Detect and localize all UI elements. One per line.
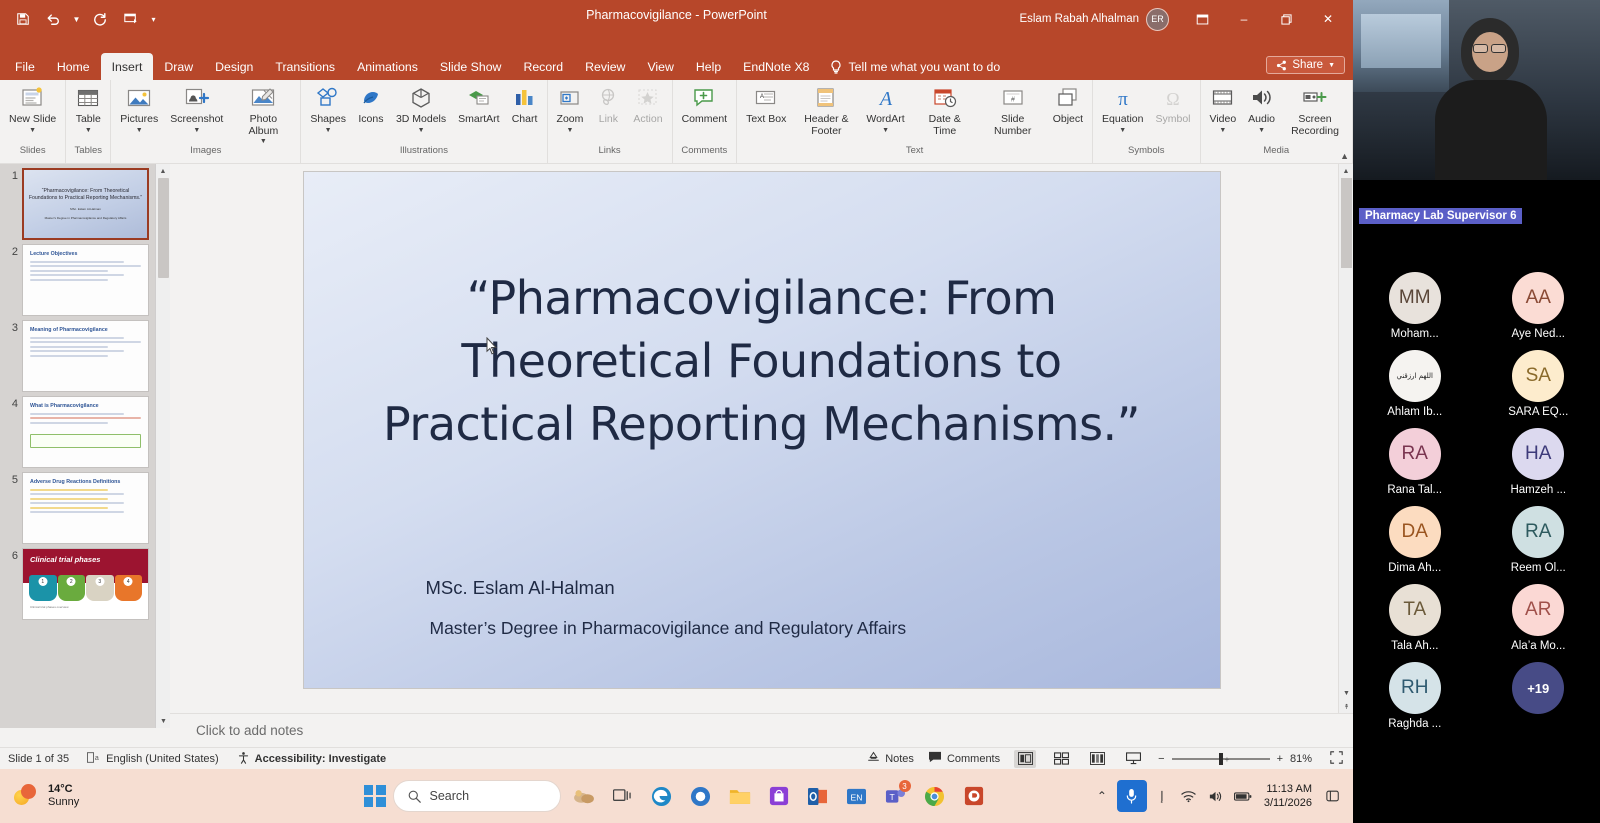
comments-label: Comments [947,753,1000,765]
slide-thumbnail-number: 3 [4,320,22,334]
participant-avatar: اللهم ارزقني [1389,350,1441,402]
notes-pane[interactable]: Click to add notes [170,713,1353,747]
thumbnail-phase-row: 1234 [23,575,148,601]
thumbnail-title-slide: “Pharmacovigilance: From Theoretical Fou… [24,170,147,238]
start-presentation-icon[interactable] [117,6,143,32]
reading-view-button[interactable] [1086,750,1108,768]
undo-icon[interactable] [40,6,66,32]
taskbar-center: Search [364,780,990,812]
slide-editing-pane: “Pharmacovigilance: From Theoretical Fou… [170,164,1353,728]
participant-avatar: AR [1512,584,1564,636]
zoom-button[interactable]: Zoom▼ [551,82,590,136]
link-button: Link [589,82,627,128]
tell-me-search[interactable]: Tell me what you want to do [820,53,1010,80]
participant-roster: MMMoham...AAAye Ned...اللهم ارزقنيAhlam … [1353,272,1600,730]
search-input[interactable]: Search [393,780,561,812]
svg-text:Ω: Ω [1166,89,1179,109]
weather-widget[interactable]: 14°C Sunny [0,783,79,809]
participant-avatar: TA [1389,584,1441,636]
participant-overflow[interactable]: +19 [1477,662,1600,730]
participant-tile[interactable]: ARAla’a Mo... [1477,584,1600,652]
outlook-icon[interactable] [802,780,834,812]
accessibility-label: Accessibility: Investigate [255,753,386,765]
slide-thumbnail-number: 6 [4,548,22,562]
weather-temp: 14°C [48,783,73,795]
audio-button[interactable]: Audio▼ [1242,82,1281,136]
ribbon-tab-animations[interactable]: Animations [346,53,429,80]
new-slide-button[interactable]: New Slide▼ [3,82,62,136]
participant-tile[interactable]: RAReem Ol... [1477,506,1600,574]
english-ime-icon[interactable]: EN [841,780,873,812]
weather-desc: Sunny [48,796,79,808]
phase-4: 4 [115,575,143,601]
zoom-in-button[interactable]: + [1277,753,1283,765]
slide-sorter-button[interactable] [1050,750,1072,768]
date-time-button[interactable]: Date & Time [911,82,979,139]
participant-tile[interactable]: HAHamzeh ... [1477,428,1600,496]
avatar[interactable]: ER [1146,8,1169,31]
save-icon[interactable] [10,6,36,32]
ribbon-item-label: SmartArt [458,114,499,126]
smartart-button[interactable]: SmartArt [452,82,505,128]
ribbon-tab-file[interactable]: File [4,53,46,80]
thumbnail-slide-subtitle: MSc. Eslam Al-Halman [70,207,101,211]
slide-scroll-thumb[interactable] [1341,178,1352,268]
participant-name: Ala’a Mo... [1511,640,1565,652]
slide-thumbnail-row: 3Meaning of Pharmacovigilance [0,316,170,392]
video-person [1431,18,1551,180]
ribbon-tab-view[interactable]: View [636,53,684,80]
slide-thumbnail-5[interactable]: Adverse Drug Reactions Definitions [22,472,149,544]
participant-avatar: SA [1512,350,1564,402]
thumbnail-slide-subtitle2: Master’s Degree in Pharmacovigilance and… [45,216,127,220]
comment-button[interactable]: Comment [676,82,734,128]
share-label: Share [1292,59,1323,71]
audio-icon [1249,84,1275,114]
phase-3: 3 [86,575,114,601]
svg-text:A: A [877,88,892,110]
participant-tile[interactable]: RHRaghda ... [1353,662,1477,730]
slide-degree[interactable]: Master’s Degree in Pharmacovigilance and… [430,618,907,639]
wordart-button[interactable]: AWordArt▼ [860,82,910,136]
teams-badge: 3 [899,780,911,792]
thumbnail-scroll-up-icon[interactable]: ▲ [156,164,170,178]
participant-tile[interactable]: SASARA EQ... [1477,350,1600,418]
participant-name: Reem Ol... [1511,562,1566,574]
participant-name: Ahlam Ib... [1387,406,1442,418]
comments-toggle[interactable]: Comments [928,751,1000,766]
ribbon-item-label: Screenshot [170,114,223,126]
close-button[interactable]: ✕ [1307,3,1349,35]
participant-name: SARA EQ... [1508,406,1568,418]
phase-1: 1 [29,575,57,601]
ribbon-item-label: 3D Models [396,114,446,126]
search-placeholder: Search [430,789,470,803]
svg-text:π: π [1118,89,1128,110]
ribbon-display-options-icon[interactable] [1181,3,1223,35]
status-bar-right: Notes Comments [867,750,1353,768]
ribbon-item-label: Comment [682,114,728,126]
photo-album-icon [250,84,276,114]
screen-recording-icon [1302,84,1328,114]
icons-icon [358,84,384,114]
main-area: 1“Pharmacovigilance: From Theoretical Fo… [0,164,1353,728]
participant-name: Aye Ned... [1512,328,1566,340]
ribbon-group-label: Comments [676,145,734,156]
fit-to-window-icon[interactable] [1330,751,1343,767]
object-button[interactable]: Object [1047,82,1089,128]
participant-tile[interactable]: AAAye Ned... [1477,272,1600,340]
title-bar-right: Eslam Rabah Alhalman ER – ✕ [1019,0,1353,38]
3d-models-icon [408,84,434,114]
svg-text:T: T [890,792,896,802]
chevron-down-icon[interactable]: ▼ [567,127,574,134]
action-button: Action [627,82,668,128]
previous-slide-icon[interactable]: ↟ [1339,700,1353,714]
chevron-down-icon[interactable]: ▼ [29,127,36,134]
wordart-icon: A [873,84,899,114]
slide-show-button[interactable] [1122,750,1144,768]
ribbon-item-label: Action [633,114,662,126]
zoom-slider-knob[interactable] [1219,753,1223,765]
share-icon [1276,60,1287,71]
file-explorer-icon[interactable] [724,780,756,812]
teams-icon[interactable]: T 3 [880,780,912,812]
lightbulb-icon [830,60,842,74]
qat-more-icon[interactable]: ▾ [147,15,160,24]
ribbon-group-label: Links [551,145,669,156]
powerpoint-window: ▼ ▾ Pharmacovigilance - PowerPoint Eslam… [0,0,1353,823]
svg-text:EN: EN [851,792,863,802]
edge-icon[interactable] [646,780,678,812]
tell-me-label: Tell me what you want to do [848,60,1000,74]
participant-tile[interactable]: TATala Ah... [1353,584,1477,652]
weather-icon [14,784,40,808]
ime-indicator[interactable]: إ [1150,782,1174,810]
photo-album-button[interactable]: Photo Album▼ [229,82,297,147]
pictures-button[interactable]: Pictures▼ [114,82,164,136]
screenshot-button[interactable]: Screenshot▼ [164,82,229,136]
chevron-down-icon[interactable]: ▼ [1219,127,1226,134]
slide-thumbnail-6[interactable]: Clinical trial phases1234Clinical trial … [22,548,149,620]
speaker-name-badge: Pharmacy Lab Supervisor 6 [1359,208,1522,224]
chevron-down-icon[interactable]: ▼ [1119,127,1126,134]
ribbon-tab-endnote-x8[interactable]: EndNote X8 [732,53,820,80]
status-bar-left: Slide 1 of 35 a English (United States) … [0,751,386,767]
ribbon-item-label: Slide Number [985,114,1041,137]
ribbon-group-label: Slides [3,145,62,156]
ribbon-item-label: Photo Album [235,114,291,137]
slide-thumbnail-number: 2 [4,244,22,258]
participant-avatar: AA [1512,272,1564,324]
chevron-down-icon[interactable]: ▼ [193,127,200,134]
new-slide-icon [20,84,46,114]
accessibility-status[interactable]: Accessibility: Investigate [237,751,386,767]
participant-tile[interactable]: MMMoham... [1353,272,1477,340]
svg-text:a: a [95,755,99,762]
slide-title[interactable]: “Pharmacovigilance: From Theoretical Fou… [362,267,1162,456]
chevron-down-icon[interactable]: ▼ [325,127,332,134]
action-icon [635,84,661,114]
phase-2: 2 [58,575,86,601]
text-box-icon: A [753,84,779,114]
ribbon-item-label: Shapes [310,114,346,126]
ribbon-group-tables: Table▼Tables [66,80,111,163]
screenshot-icon [184,84,210,114]
ribbon-group-slides: New Slide▼Slides [0,80,66,163]
ribbon-group-media: Video▼Audio▼Screen RecordingMedia [1201,80,1354,163]
thumbnail-content-slide: Meaning of Pharmacovigilance [23,321,148,391]
object-icon [1055,84,1081,114]
teams-meeting-panel: Pharmacy Lab Supervisor 6 MMMoham...AAAy… [1353,0,1600,823]
ribbon-group-images: Pictures▼Screenshot▼Photo Album▼Images [111,80,301,163]
video-button[interactable]: Video▼ [1204,82,1243,136]
participant-avatar: MM [1389,272,1441,324]
ribbon-tab-record[interactable]: Record [512,53,574,80]
thumbnail-scrollbar[interactable]: ▲ ▼ [155,164,170,728]
ribbon-group-label: Tables [69,145,107,156]
ribbon-group-symbols: πEquation▼ΩSymbolSymbols [1093,80,1200,163]
header-footer-icon [813,84,839,114]
slide-thumbnail-3[interactable]: Meaning of Pharmacovigilance [22,320,149,392]
ribbon-tab-draw[interactable]: Draw [153,53,204,80]
participant-name: Rana Tal... [1387,484,1442,496]
ribbon-group-label: Text [740,145,1089,156]
text-box-button[interactable]: AText Box [740,82,792,128]
date-time-icon [932,84,958,114]
chevron-down-icon[interactable]: ▼ [882,127,889,134]
ribbon-item-label: Date & Time [917,114,973,137]
system-tray: ⌃ إ 11:13 AM 3/11/2026 [1090,780,1353,812]
wifi-icon[interactable] [1177,782,1201,810]
zoom-icon [557,84,583,114]
store-icon[interactable] [763,780,795,812]
thumbnail-slide-title: “Pharmacovigilance: From Theoretical Fou… [28,188,143,202]
zoom-control[interactable]: − + + 81% [1158,753,1316,765]
participant-tile[interactable]: DADima Ah... [1353,506,1477,574]
collapse-ribbon-icon[interactable]: ▲ [1340,151,1349,161]
slide-scroll-down-icon[interactable]: ▼ [1339,686,1353,700]
ribbon-tab-bar: FileHomeInsertDrawDesignTransitionsAnima… [0,53,1353,80]
chevron-down-icon[interactable]: ▼ [418,127,425,134]
participant-name: Moham... [1391,328,1439,340]
link-icon [595,84,621,114]
windows-start-icon[interactable] [364,785,386,807]
normal-view-button[interactable] [1014,750,1036,768]
current-slide[interactable]: “Pharmacovigilance: From Theoretical Fou… [304,172,1220,688]
participant-avatar: RA [1512,506,1564,558]
windows-taskbar: 14°C Sunny Search [0,769,1353,823]
notes-icon [867,751,880,766]
ribbon-group-label: Symbols [1096,145,1196,156]
thumbnail-slide-title: Adverse Drug Reactions Definitions [30,479,141,485]
notes-toggle[interactable]: Notes [867,751,914,766]
notification-icon[interactable] [1321,782,1345,810]
slide-thumbnail-row: 5Adverse Drug Reactions Definitions [0,468,170,544]
language-icon: a [87,752,101,766]
thumbnail-content-slide: Adverse Drug Reactions Definitions [23,473,148,543]
chevron-down-icon[interactable]: ▼ [260,138,267,145]
slide-thumbnail-row: 2Lecture Objectives [0,240,170,316]
ribbon-item-label: Equation [1102,114,1143,126]
weather-text: 14°C Sunny [48,783,79,809]
ribbon-group-label: Media [1204,145,1350,156]
slide-thumbnail-2[interactable]: Lecture Objectives [22,244,149,316]
ribbon-item-label: Link [599,114,618,126]
mic-icon[interactable] [1117,780,1147,812]
table-icon [75,84,101,114]
chevron-down-icon[interactable]: ▼ [85,127,92,134]
minimize-button[interactable]: – [1223,3,1265,35]
participant-avatar: HA [1512,428,1564,480]
zoom-default-marker: + [1225,755,1230,764]
participant-avatar: DA [1389,506,1441,558]
thumbnail-content-slide: What is Pharmacovigilance [23,397,148,467]
clock-date: 3/11/2026 [1264,797,1312,809]
slide-thumbnail-pane[interactable]: 1“Pharmacovigilance: From Theoretical Fo… [0,164,170,728]
shapes-icon [315,84,341,114]
chevron-down-icon[interactable]: ▼ [136,127,143,134]
ribbon-item-label: Symbol [1155,114,1190,126]
quick-access-toolbar: ▼ ▾ [0,0,160,32]
search-icon [408,790,421,803]
comment-icon [691,84,717,114]
battery-icon[interactable] [1231,782,1255,810]
svg-text:#: # [1011,97,1015,104]
3d-models-button[interactable]: 3D Models▼ [390,82,452,136]
ribbon-item-label: Chart [512,114,538,126]
ribbon-item-label: Pictures [120,114,158,126]
ribbon-group-label: Illustrations [304,145,543,156]
ribbon-item-label: Object [1053,114,1083,126]
chart-button[interactable]: Chart [506,82,544,128]
ribbon-tab-slide-show[interactable]: Slide Show [429,53,513,80]
ribbon-tab-insert[interactable]: Insert [101,53,154,80]
slide-author[interactable]: MSc. Eslam Al-Halman [426,577,615,599]
powerpoint-icon[interactable] [958,780,990,812]
account-name: Eslam Rabah Alhalman [1019,13,1139,25]
volume-icon[interactable] [1204,782,1228,810]
accessibility-icon [237,751,250,767]
screen-root: ▼ ▾ Pharmacovigilance - PowerPoint Eslam… [0,0,1600,823]
pictures-icon [126,84,152,114]
zoom-level[interactable]: 81% [1290,753,1316,765]
ribbon-tab-design[interactable]: Design [204,53,264,80]
restore-button[interactable] [1265,3,1307,35]
ribbon-tab-review[interactable]: Review [574,53,636,80]
table-button[interactable]: Table▼ [69,82,107,136]
thumbnail-scroll-thumb[interactable] [158,178,169,278]
undo-dropdown-icon[interactable]: ▼ [70,15,83,24]
participant-name: Dima Ah... [1388,562,1441,574]
participant-tile[interactable]: اللهم ارزقنيAhlam Ib... [1353,350,1477,418]
symbol-icon: Ω [1160,84,1186,114]
chevron-down-icon[interactable]: ▼ [1258,127,1265,134]
task-view-icon[interactable] [607,780,639,812]
notes-placeholder[interactable]: Click to add notes [196,723,303,738]
participant-avatar: RA [1389,428,1441,480]
chrome-icon[interactable] [919,780,951,812]
equation-button[interactable]: πEquation▼ [1096,82,1149,136]
slide-thumbnail-row: 1“Pharmacovigilance: From Theoretical Fo… [0,164,170,240]
chart-icon [512,84,538,114]
ribbon-group-label: Images [114,145,297,156]
status-bar: Slide 1 of 35 a English (United States) … [0,747,1353,769]
slide-thumbnail-1[interactable]: “Pharmacovigilance: From Theoretical Fou… [22,168,149,240]
comment-icon [928,751,942,766]
slide-thumbnail-4[interactable]: What is Pharmacovigilance [22,396,149,468]
icons-button[interactable]: Icons [352,82,390,128]
slide-thumbnail-row: 4What is Pharmacovigilance [0,392,170,468]
ribbon-tab-help[interactable]: Help [685,53,732,80]
slide-thumbnail-number: 5 [4,472,22,486]
participant-name: Tala Ah... [1391,640,1438,652]
symbol-button: ΩSymbol [1149,82,1196,128]
zoom-out-button[interactable]: − [1158,753,1164,765]
ribbon-group-links: Zoom▼LinkActionLinks [548,80,673,163]
slide-thumbnail-number: 4 [4,396,22,410]
ribbon-item-label: Screen Recording [1287,114,1343,137]
redo-icon[interactable] [87,6,113,32]
ribbon-item-label: New Slide [9,114,56,126]
language-status[interactable]: a English (United States) [87,752,219,766]
slide-number-button[interactable]: #Slide Number [979,82,1047,139]
ribbon-group-illustrations: Shapes▼Icons3D Models▼SmartArtChartIllus… [301,80,547,163]
ribbon-item-label: Table [76,114,101,126]
share-caret-icon[interactable]: ▼ [1328,62,1335,69]
notes-label: Notes [885,753,914,765]
zoom-slider[interactable]: + [1172,758,1270,760]
ribbon-tab-home[interactable]: Home [46,53,101,80]
participant-name: Raghda ... [1388,718,1441,730]
browser-icon[interactable] [685,780,717,812]
show-hidden-icons-icon[interactable]: ⌃ [1090,782,1114,810]
overflow-count-badge: +19 [1512,662,1564,714]
slide-scrollbar[interactable]: ▲ ▼ ↟ ↡ [1338,164,1353,728]
ribbon-item-label: Icons [358,114,383,126]
ribbon-item-label: WordArt [866,114,904,126]
share-button[interactable]: Share▼ [1266,56,1345,74]
active-speaker-video[interactable] [1353,0,1600,180]
thumbnail-footer: Clinical trial phases overview [23,601,148,609]
participant-avatar: RH [1389,662,1441,714]
svg-text:A: A [760,94,764,100]
slide-count[interactable]: Slide 1 of 35 [8,753,69,765]
header-footer-button[interactable]: Header & Footer [792,82,860,139]
language-label: English (United States) [106,753,219,765]
weather-widget-icon[interactable] [568,780,600,812]
video-icon [1210,84,1236,114]
ribbon: New Slide▼SlidesTable▼TablesPictures▼Scr… [0,80,1353,164]
ribbon-item-label: Video [1210,114,1237,126]
thumbnail-slide-title: Lecture Objectives [30,251,141,257]
clock[interactable]: 11:13 AM 3/11/2026 [1258,782,1318,810]
shapes-button[interactable]: Shapes▼ [304,82,352,136]
slide-thumbnail-number: 1 [4,168,22,182]
ribbon-tab-transitions[interactable]: Transitions [264,53,346,80]
title-bar: ▼ ▾ Pharmacovigilance - PowerPoint Eslam… [0,0,1353,53]
screen-recording-button[interactable]: Screen Recording [1281,82,1349,139]
slide-scroll-up-icon[interactable]: ▲ [1339,164,1353,178]
participant-tile[interactable]: RARana Tal... [1353,428,1477,496]
slide-thumbnail-row: 6Clinical trial phases1234Clinical trial… [0,544,170,620]
ribbon-group-comments: CommentComments [673,80,738,163]
clock-time: 11:13 AM [1266,783,1312,795]
thumbnail-clinical-slide: Clinical trial phases1234Clinical trial … [23,549,148,619]
thumbnail-scroll-down-icon[interactable]: ▼ [156,714,170,728]
ribbon-group-text: AText BoxHeader & FooterAWordArt▼Date & … [737,80,1093,163]
thumbnail-slide-title: Meaning of Pharmacovigilance [30,327,141,333]
